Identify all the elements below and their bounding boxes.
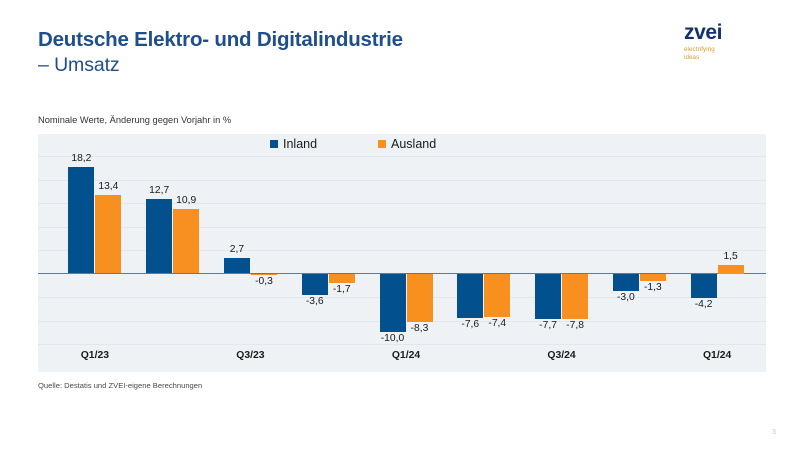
bar-ausland-Q2-24[interactable] [484, 274, 510, 317]
chart-panel: Inland Ausland 18,212,72,7-3,6-10,0-7,6-… [38, 134, 766, 372]
bar-value-label: -7,8 [553, 320, 597, 331]
bar-ausland-Q4-23[interactable] [329, 274, 355, 284]
bar-inland-Q2-24[interactable] [457, 274, 483, 319]
bar-inland-Q3-24[interactable] [535, 274, 561, 319]
title-line-1: Deutsche Elektro- und Digitalindustrie [38, 28, 403, 52]
bar-value-label: 10,9 [164, 195, 208, 206]
bar-value-label: -8,3 [398, 323, 442, 334]
bar-value-label: -3,6 [293, 296, 337, 307]
category-label-Q3-24: Q3/24 [532, 350, 592, 361]
legend-label-inland: Inland [283, 137, 317, 151]
bar-ausland-Q4-24[interactable] [640, 274, 666, 282]
bar-value-label: -3,0 [604, 292, 648, 303]
page-title: Deutsche Elektro- und Digitalindustrie –… [38, 28, 403, 77]
bar-inland-Q1-24[interactable] [691, 274, 717, 299]
logo-tagline: electrifying ideas [684, 46, 764, 62]
bar-value-label: 1,5 [709, 251, 753, 262]
bar-ausland-Q3-23[interactable] [251, 274, 277, 276]
category-label-Q1-24: Q1/24 [376, 350, 436, 361]
chart-legend: Inland Ausland [38, 136, 766, 156]
logo-tagline-line-1: electrifying [684, 46, 764, 54]
bar-value-label: 12,7 [137, 185, 181, 196]
category-label-Q1-23: Q1/23 [65, 350, 125, 361]
bar-inland-Q2-23[interactable] [146, 199, 172, 274]
logo-tagline-line-2: ideas [684, 54, 764, 62]
logo-wordmark: zvei [684, 22, 764, 43]
chart-subtitle: Nominale Werte, Änderung gegen Vorjahr i… [38, 115, 231, 125]
legend-item-inland[interactable]: Inland [270, 137, 317, 151]
slide-header: Deutsche Elektro- und Digitalindustrie –… [0, 0, 800, 100]
bar-value-label: -10,0 [371, 333, 415, 344]
category-label-Q3-23: Q3/23 [220, 350, 280, 361]
bar-value-label: -7,4 [475, 318, 519, 329]
category-label-Q1-24: Q1/24 [687, 350, 747, 361]
gridline [38, 180, 766, 181]
bar-value-label: -0,3 [242, 276, 286, 287]
bar-value-label: -4,2 [682, 299, 726, 310]
bar-value-label: 13,4 [86, 181, 130, 192]
bar-ausland-Q2-23[interactable] [173, 209, 199, 273]
slide-root: Deutsche Elektro- und Digitalindustrie –… [0, 0, 800, 450]
zvei-logo: zvei electrifying ideas [684, 22, 764, 62]
bar-ausland-Q1-24[interactable] [407, 274, 433, 323]
category-axis: Q1/23Q3/23Q1/24Q3/24Q1/24 [38, 344, 766, 372]
bar-value-label: 18,2 [59, 153, 103, 164]
plot-area: 18,212,72,7-3,6-10,0-7,6-7,7-3,0-4,213,4… [38, 156, 766, 344]
bar-ausland-Q1-24[interactable] [718, 265, 744, 274]
legend-swatch-ausland [378, 140, 386, 148]
legend-label-ausland: Ausland [391, 137, 436, 151]
legend-item-ausland[interactable]: Ausland [378, 137, 436, 151]
bar-inland-Q3-23[interactable] [224, 258, 250, 274]
bar-value-label: -1,3 [631, 282, 675, 293]
source-note: Quelle: Destatis und ZVEI-eigene Berechn… [38, 381, 202, 390]
legend-swatch-inland [270, 140, 278, 148]
title-line-2: – Umsatz [38, 54, 403, 77]
bar-ausland-Q1-23[interactable] [95, 195, 121, 274]
gridline [38, 156, 766, 157]
bar-value-label: -1,7 [320, 284, 364, 295]
bar-ausland-Q3-24[interactable] [562, 274, 588, 320]
bar-value-label: 2,7 [215, 244, 259, 255]
page-number: 3 [772, 427, 776, 436]
